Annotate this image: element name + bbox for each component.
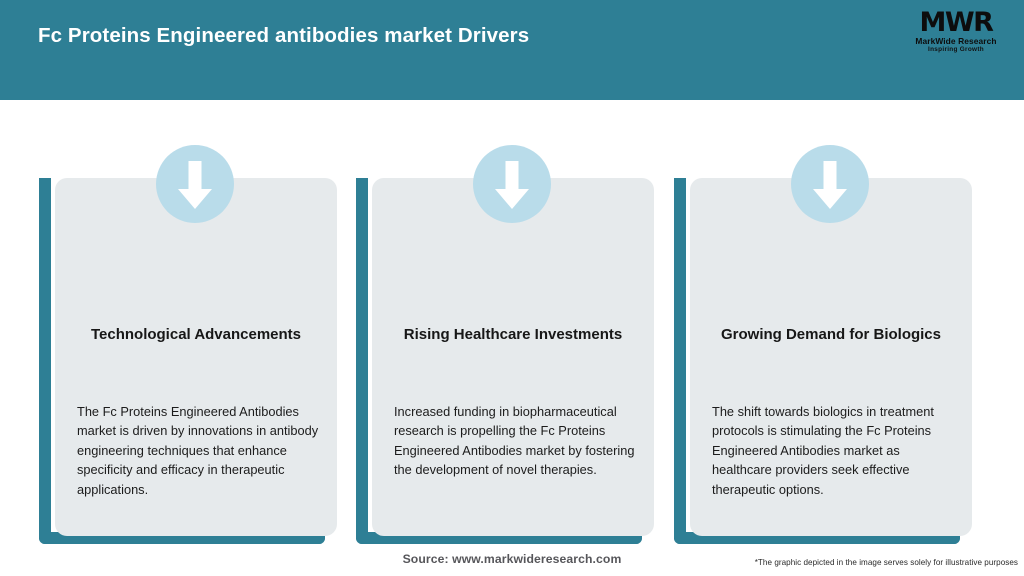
illustrative-disclaimer: *The graphic depicted in the image serve… <box>755 558 1018 567</box>
driver-card[interactable]: Growing Demand for Biologics The shift t… <box>690 178 972 536</box>
brand-logo: MWR MarkWide Research Inspiring Growth <box>904 9 1008 57</box>
page-header: Fc Proteins Engineered antibodies market… <box>0 0 1024 100</box>
arrow-down-icon <box>791 145 869 223</box>
driver-card-body: The Fc Proteins Engineered Antibodies ma… <box>77 402 321 499</box>
driver-card-group-3: Growing Demand for Biologics The shift t… <box>674 100 974 545</box>
driver-card-heading: Rising Healthcare Investments <box>392 324 634 346</box>
logo-tagline: Inspiring Growth <box>904 46 1008 54</box>
driver-card-body: The shift towards biologics in treatment… <box>712 402 956 499</box>
logo-company-name: MarkWide Research <box>904 36 1008 46</box>
drivers-card-row: Technological Advancements The Fc Protei… <box>0 100 1024 545</box>
arrow-down-icon <box>156 145 234 223</box>
driver-card-heading: Growing Demand for Biologics <box>710 324 952 346</box>
driver-card-body: Increased funding in biopharmaceutical r… <box>394 402 638 480</box>
driver-card-group-1: Technological Advancements The Fc Protei… <box>39 100 339 545</box>
page-title: Fc Proteins Engineered antibodies market… <box>38 24 529 48</box>
driver-card-heading: Technological Advancements <box>75 324 317 346</box>
driver-card[interactable]: Rising Healthcare Investments Increased … <box>372 178 654 536</box>
arrow-down-icon <box>473 145 551 223</box>
driver-card[interactable]: Technological Advancements The Fc Protei… <box>55 178 337 536</box>
logo-monogram: MWR <box>904 9 1008 36</box>
driver-card-group-2: Rising Healthcare Investments Increased … <box>356 100 656 545</box>
